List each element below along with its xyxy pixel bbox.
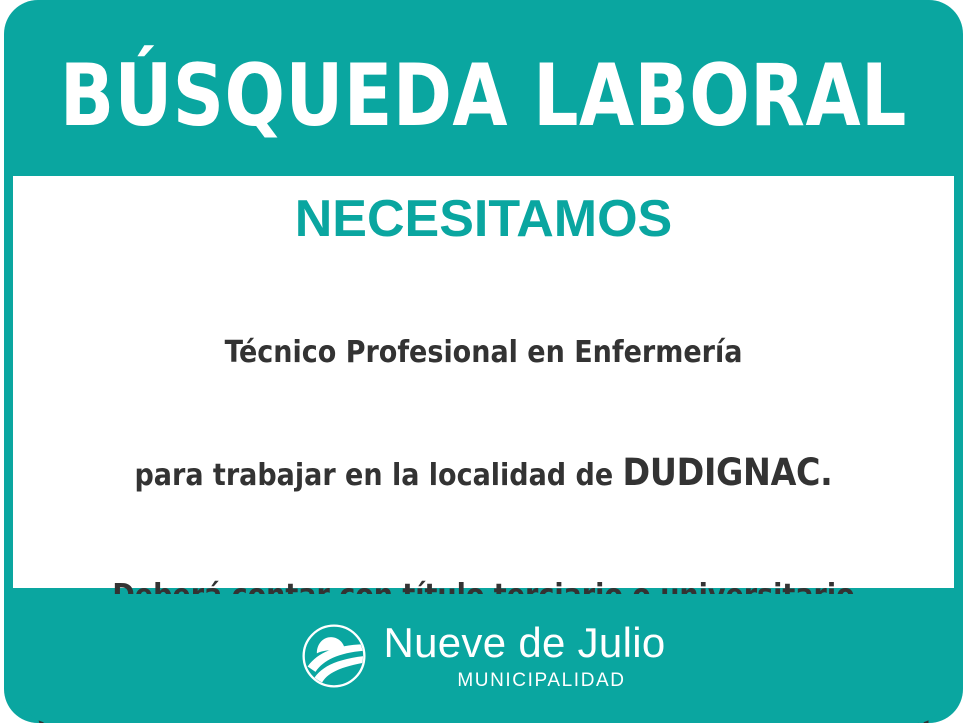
body-line: Técnico Profesional en Enfermería bbox=[13, 333, 954, 373]
body-line-text: para trabajar en la localidad de bbox=[134, 458, 622, 493]
body-panel: NECESITAMOS Técnico Profesional en Enfer… bbox=[13, 176, 954, 588]
header-band: BÚSQUEDA LABORAL bbox=[4, 0, 963, 176]
body-heading: NECESITAMOS bbox=[13, 192, 954, 247]
footer-logo-text: Nueve de Julio MUNICIPALIDAD bbox=[383, 622, 665, 690]
body-line-text: Técnico Profesional en Enfermería bbox=[225, 335, 743, 370]
poster-card: BÚSQUEDA LABORAL NECESITAMOS Técnico Pro… bbox=[4, 0, 963, 723]
nueve-de-julio-circle-logo-icon bbox=[301, 623, 367, 689]
locality-name: DUDIGNAC. bbox=[623, 451, 833, 494]
body-line: para trabajar en la localidad de DUDIGNA… bbox=[13, 453, 954, 496]
organization-name: Nueve de Julio bbox=[383, 622, 665, 664]
footer-band: Nueve de Julio MUNICIPALIDAD bbox=[24, 594, 943, 723]
page-title: BÚSQUEDA LABORAL bbox=[60, 53, 907, 139]
organization-subtitle: MUNICIPALIDAD bbox=[457, 671, 625, 690]
